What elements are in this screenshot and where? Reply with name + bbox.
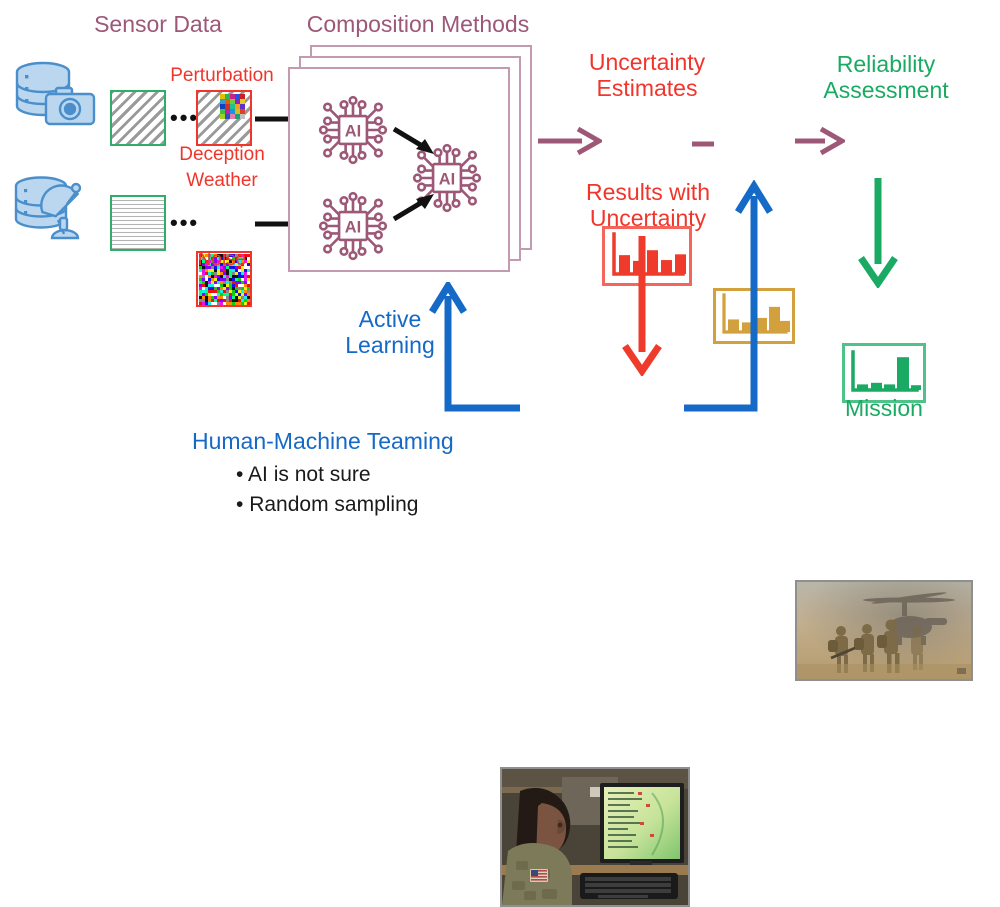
ai-chip-top: AI	[312, 89, 394, 171]
list-item-label: AI is not sure	[248, 463, 371, 486]
bullet-dot: •	[236, 463, 243, 486]
arrow-ai-bottom-to-fusion	[392, 185, 440, 225]
ai-chip-bottom: AI	[312, 185, 394, 267]
list-item-label: Random sampling	[249, 493, 418, 516]
svg-text:AI: AI	[439, 171, 455, 189]
arrow-calibrated-to-reliability	[795, 126, 845, 156]
clean-hatched-image	[110, 90, 166, 146]
mission-label: Mission	[804, 396, 964, 422]
sensor-data-heading: Sensor Data	[58, 12, 258, 38]
weather-label: Weather	[152, 170, 292, 191]
human-machine-teaming-heading: Human-Machine Teaming	[192, 428, 512, 455]
row1-ellipsis: •••	[170, 105, 199, 131]
database-radar-icon	[8, 172, 100, 253]
soldiers-helicopter-photo	[795, 580, 973, 681]
noise-label: Noise	[152, 249, 292, 270]
arrow-uncertainty-to-calibrated	[692, 138, 714, 150]
arrow-uncertainty-to-human	[620, 236, 664, 376]
human-machine-teaming-bullets: • AI is not sure • Random sampling	[236, 460, 516, 520]
deception-label: Deception	[152, 144, 292, 165]
svg-text:AI: AI	[345, 219, 361, 237]
reliability-assessment-chart	[842, 343, 926, 403]
svg-text:AI: AI	[345, 123, 361, 141]
perturbed-hatched-image	[196, 90, 252, 146]
arrow-reliability-to-mission	[858, 178, 898, 288]
reliability-assessment-heading: Reliability Assessment	[806, 52, 966, 104]
bullet-dot: •	[236, 493, 243, 516]
clean-grid-image	[110, 195, 166, 251]
database-camera-icon	[8, 56, 100, 137]
row2-ellipsis: •••	[170, 210, 199, 236]
active-learning-label: Active Learning	[330, 307, 450, 359]
composition-stack: AI AI AI	[288, 45, 538, 280]
soldier-at-computer-photo	[500, 767, 690, 907]
arrow-human-to-calibrated	[684, 180, 794, 414]
arrow-ai-top-to-fusion	[392, 123, 440, 163]
perturbation-label: Perturbation	[152, 65, 292, 86]
composition-methods-heading: Composition Methods	[288, 12, 548, 38]
uncertainty-estimates-heading: Uncertainty Estimates	[572, 50, 722, 102]
arrow-composition-to-uncertainty	[536, 126, 602, 156]
list-item: • AI is not sure	[236, 460, 516, 490]
list-item: • Random sampling	[236, 490, 516, 520]
